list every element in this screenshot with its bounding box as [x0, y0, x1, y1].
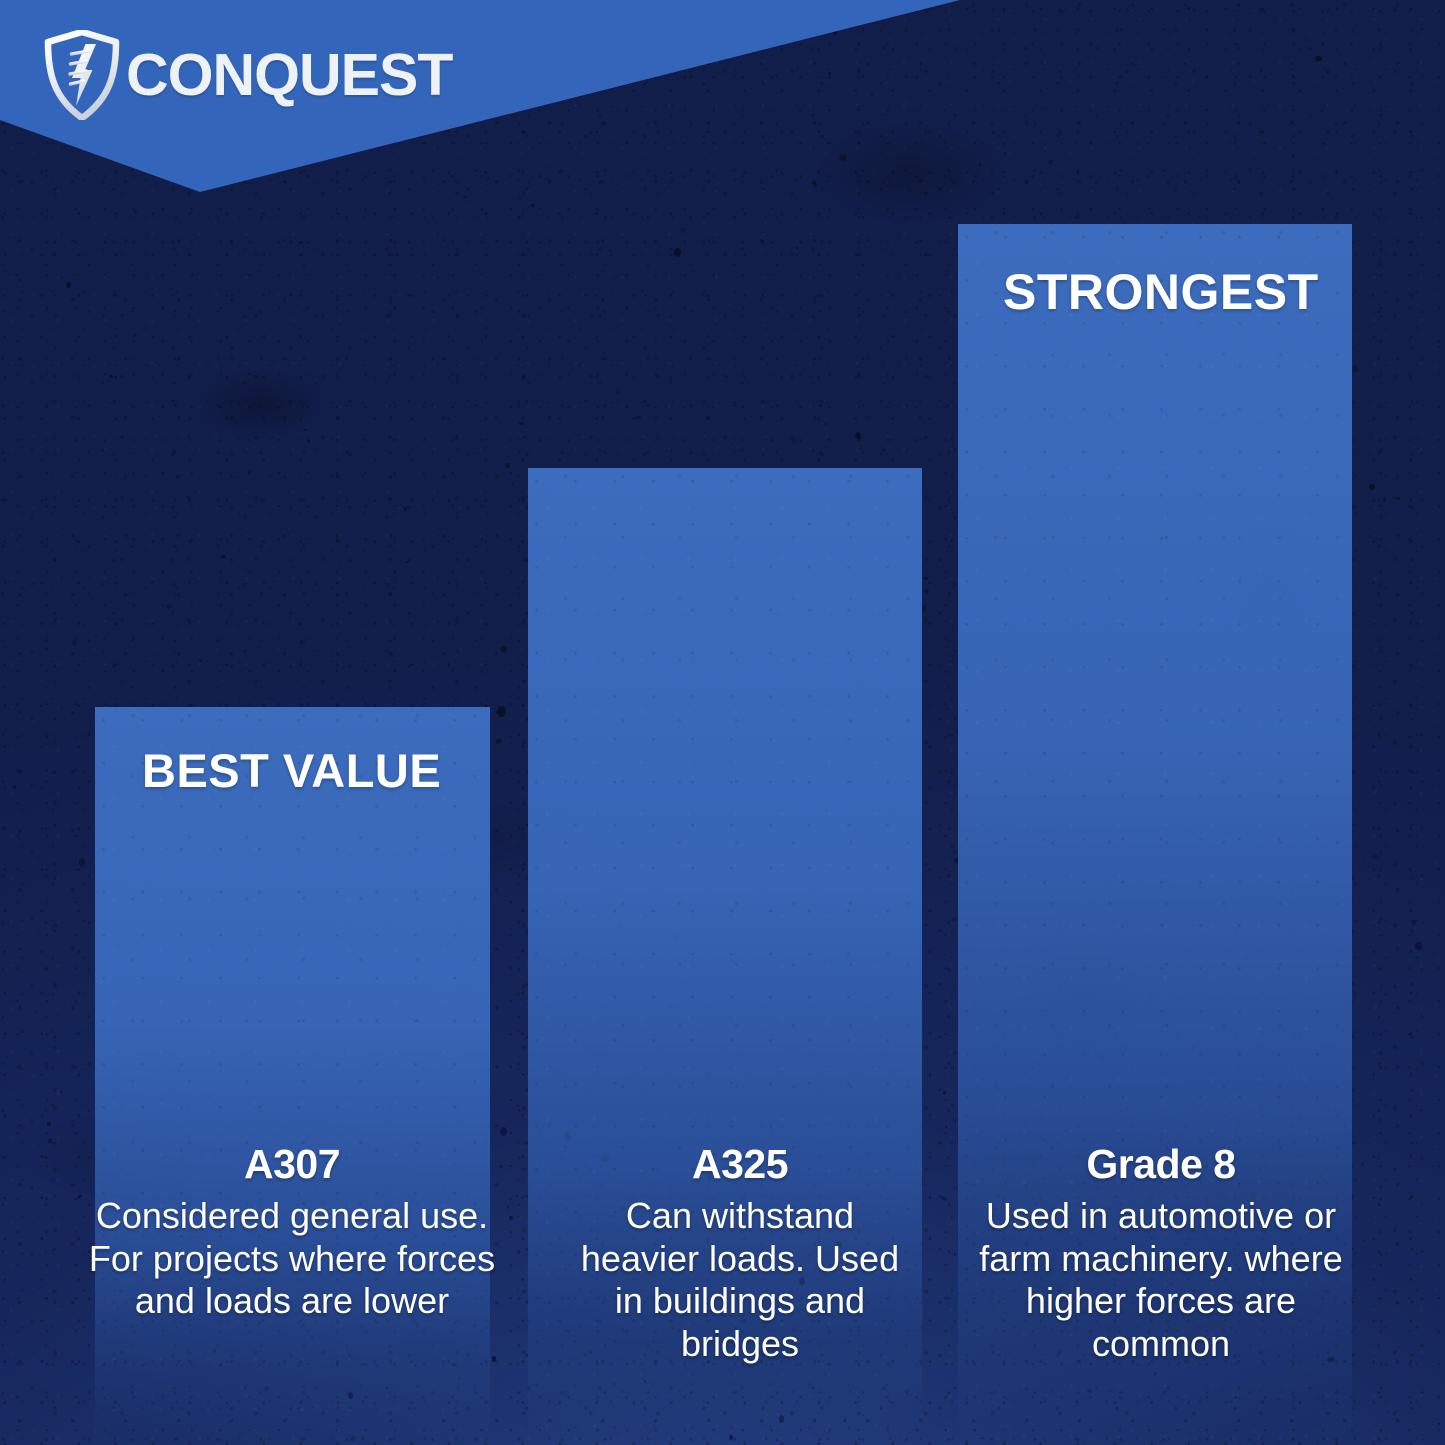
caption-title-a325: A325	[570, 1142, 910, 1187]
caption-body-a307: Considered general use. For projects whe…	[82, 1195, 502, 1322]
caption-title-grade-8: Grade 8	[975, 1142, 1347, 1187]
infographic-canvas: BEST VALUE STRONGEST A307 Considered gen…	[0, 0, 1445, 1445]
badge-strongest: STRONGEST	[1003, 263, 1319, 321]
caption-body-a325: Can withstand heavier loads. Used in bui…	[570, 1195, 910, 1365]
bar-a307	[95, 707, 490, 1445]
caption-a325: A325 Can withstand heavier loads. Used i…	[570, 1142, 910, 1365]
caption-title-a307: A307	[82, 1142, 502, 1187]
brand-logo[interactable]: CONQUEST	[44, 30, 452, 120]
bar-texture	[95, 707, 490, 1445]
caption-body-grade-8: Used in automotive or farm machinery. wh…	[975, 1195, 1347, 1365]
caption-grade-8: Grade 8 Used in automotive or farm machi…	[975, 1142, 1347, 1365]
shield-bolt-icon	[44, 30, 120, 120]
caption-a307: A307 Considered general use. For project…	[82, 1142, 502, 1323]
brand-name: CONQUEST	[126, 46, 452, 105]
badge-best-value: BEST VALUE	[142, 743, 441, 798]
